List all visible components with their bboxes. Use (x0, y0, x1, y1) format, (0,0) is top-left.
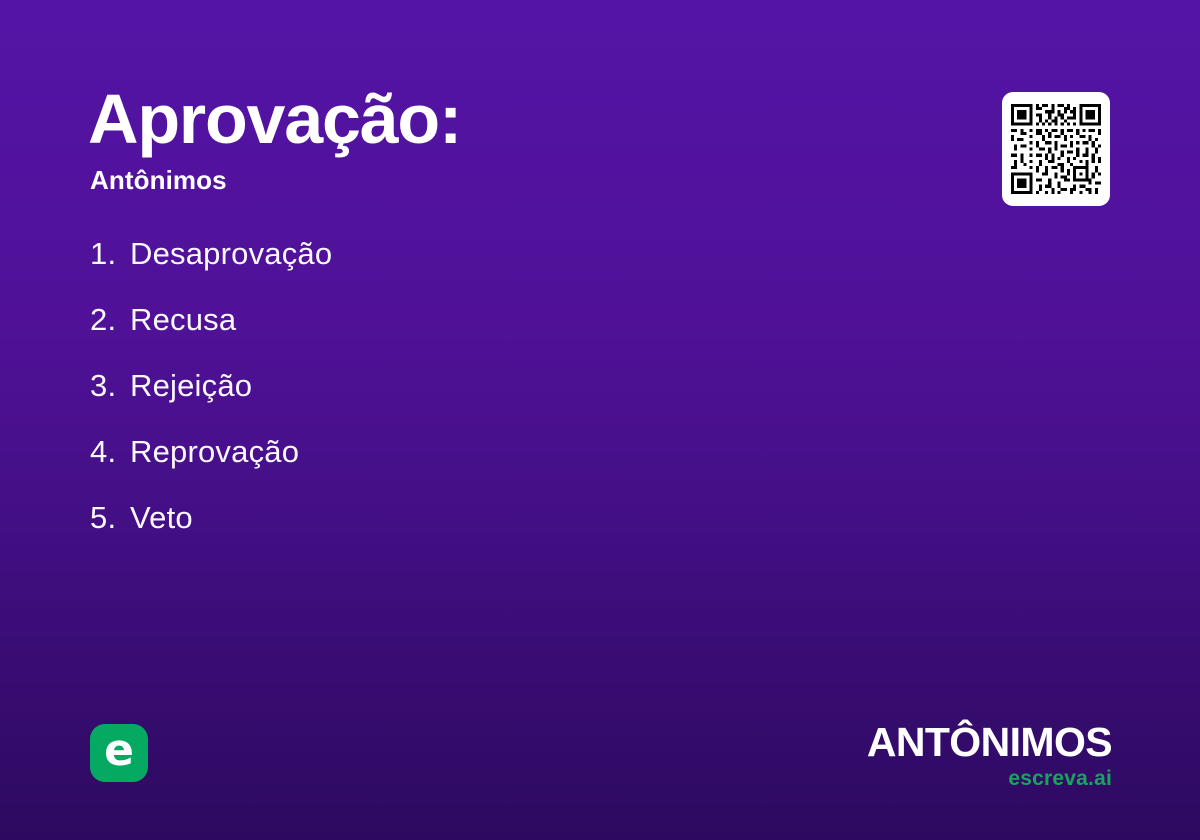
qr-code-icon (1011, 104, 1101, 194)
brand-block: ANTÔNIMOS escreva.ai (812, 722, 1112, 789)
list-item-index: 5. (90, 500, 130, 536)
list-item-index: 4. (90, 434, 130, 470)
page-title: Aprovação: (88, 86, 888, 153)
list-item-word: Desaprovação (130, 236, 332, 272)
list-item-word: Recusa (130, 302, 236, 338)
list-item-word: Reprovação (130, 434, 299, 470)
escreva-logo-badge: e (90, 724, 148, 782)
list-item-index: 2. (90, 302, 130, 338)
page-subtitle: Antônimos (90, 165, 888, 196)
list-item: 5. Veto (90, 500, 950, 566)
header-block: Aprovação: Antônimos (88, 86, 888, 196)
brand-tagline: escreva.ai (812, 768, 1112, 789)
slide-canvas: Aprovação: Antônimos (0, 0, 1200, 840)
list-item-word: Veto (130, 500, 193, 536)
list-item-index: 1. (90, 236, 130, 272)
list-item-index: 3. (90, 368, 130, 404)
brand-name: ANTÔNIMOS (812, 722, 1112, 763)
list-item: 1. Desaprovação (90, 236, 950, 302)
list-item: 4. Reprovação (90, 434, 950, 500)
qr-code-panel[interactable] (1002, 92, 1110, 206)
antonym-list: 1. Desaprovação 2. Recusa 3. Rejeição 4.… (90, 236, 950, 566)
logo-letter-e: e (104, 729, 134, 773)
list-item: 2. Recusa (90, 302, 950, 368)
list-item-word: Rejeição (130, 368, 252, 404)
list-item: 3. Rejeição (90, 368, 950, 434)
